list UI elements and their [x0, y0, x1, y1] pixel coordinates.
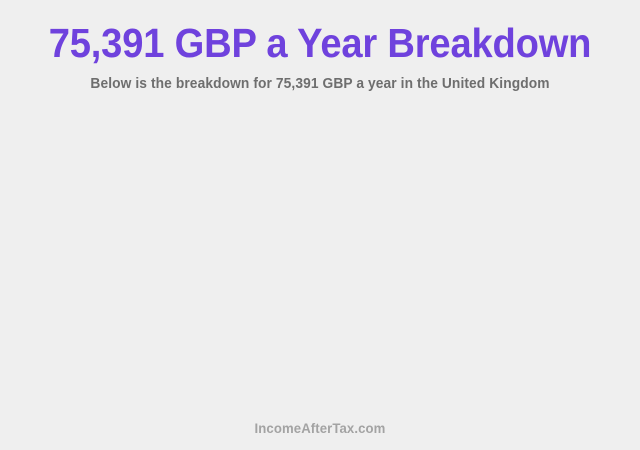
breakdown-page: 75,391 GBP a Year Breakdown Below is the…	[0, 0, 640, 450]
site-watermark: IncomeAfterTax.com	[19, 420, 621, 436]
page-footer: IncomeAfterTax.com	[0, 420, 640, 450]
page-header: 75,391 GBP a Year Breakdown Below is the…	[0, 0, 640, 93]
breakdown-content-area	[0, 93, 640, 420]
page-subtitle: Below is the breakdown for 75,391 GBP a …	[16, 65, 624, 93]
page-title: 75,391 GBP a Year Breakdown	[22, 21, 617, 65]
